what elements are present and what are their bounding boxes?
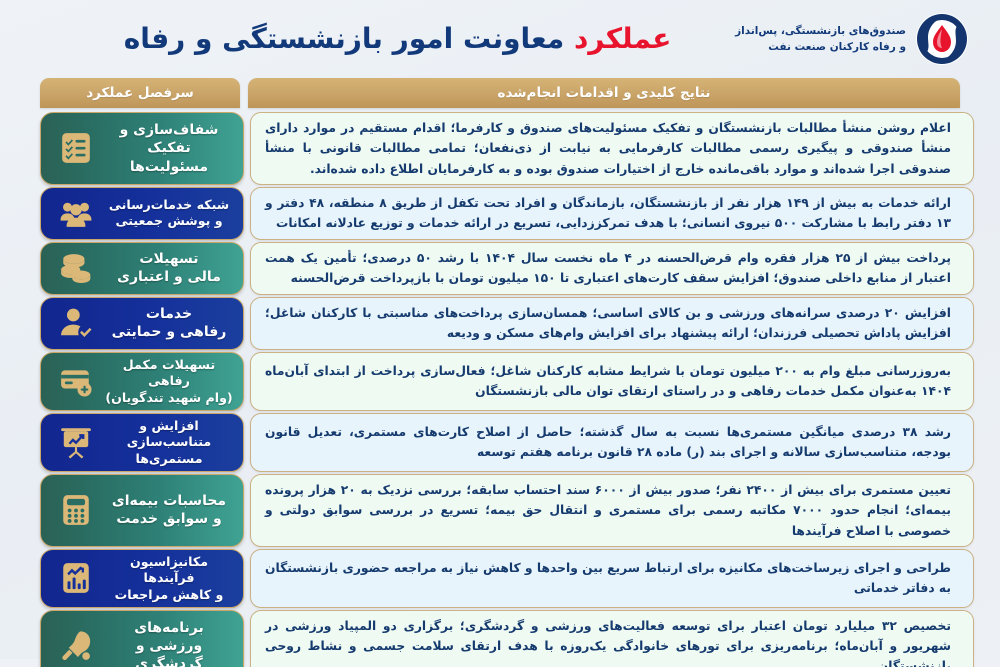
results-cell-7: تعیین مستمری برای بیش از ۲۴۰۰ نفر؛ صدور … bbox=[250, 474, 974, 547]
table-row: شفاف‌سازی و تفکیک مسئولیت‌ها اعلام روشن … bbox=[40, 112, 960, 185]
table-row: برنامه‌های ورزشی و گردشگری تخصیص ۳۲ میلی… bbox=[40, 610, 960, 667]
results-cell-6: رشد ۳۸ درصدی میانگین مستمری‌ها نسبت به س… bbox=[250, 413, 974, 472]
table-row: محاسبات بیمه‌ای و سوابق خدمت تعیین مستمر… bbox=[40, 474, 960, 547]
category-label: برنامه‌های ورزشی و گردشگری bbox=[103, 619, 235, 667]
table-rows: شفاف‌سازی و تفکیک مسئولیت‌ها اعلام روشن … bbox=[0, 108, 1000, 667]
calculator-icon bbox=[57, 491, 95, 529]
category-label: محاسبات بیمه‌ای و سوابق خدمت bbox=[103, 492, 235, 528]
results-text: رشد ۳۸ درصدی میانگین مستمری‌ها نسبت به س… bbox=[265, 422, 951, 463]
category-label: شفاف‌سازی و تفکیک مسئولیت‌ها bbox=[103, 121, 235, 176]
results-text: افزایش ۲۰ درصدی سرانه‌های ورزشی و بن کال… bbox=[265, 303, 951, 344]
category-pill-3[interactable]: تسهیلات مالی و اعتباری bbox=[40, 242, 244, 295]
category-pill-8[interactable]: مکانیزاسیون فرآیندها و کاهش مراجعات bbox=[40, 549, 244, 608]
results-cell-3: پرداخت بیش از ۲۵ هزار فقره وام قرض‌الحسن… bbox=[250, 242, 974, 295]
page-title: عملکرد معاونت امور بازنشستگی و رفاه bbox=[124, 22, 672, 55]
category-pill-9[interactable]: برنامه‌های ورزشی و گردشگری bbox=[40, 610, 244, 667]
table-row: خدمات رفاهی و حمایتی افزایش ۲۰ درصدی سرا… bbox=[40, 297, 960, 350]
results-text: تخصیص ۳۲ میلیارد تومان اعتبار برای توسعه… bbox=[265, 616, 951, 667]
category-pill-7[interactable]: محاسبات بیمه‌ای و سوابق خدمت bbox=[40, 474, 244, 547]
presentation-chart-icon bbox=[57, 423, 95, 461]
page-header: صندوق‌های بازنشستگی، پس‌انداز و رفاه کار… bbox=[0, 0, 1000, 78]
infographic-page: صندوق‌های بازنشستگی، پس‌انداز و رفاه کار… bbox=[0, 0, 1000, 667]
category-label: مکانیزاسیون فرآیندها و کاهش مراجعات bbox=[103, 554, 235, 603]
table-row: شبکه خدمات‌رسانی و پوشش جمعیتی ارائه خدم… bbox=[40, 187, 960, 240]
category-label: افزایش و متناسب‌سازی مستمری‌ها bbox=[103, 418, 235, 467]
results-text: ارائه خدمات به بیش از ۱۴۹ هزار نفر از با… bbox=[265, 193, 951, 234]
results-cell-5: به‌روزرسانی مبلغ وام به ۲۰۰ میلیون تومان… bbox=[250, 352, 974, 411]
person-check-icon bbox=[57, 304, 95, 342]
category-label: تسهیلات مکمل رفاهی (وام شهید تندگویان) bbox=[103, 357, 235, 406]
page-title-rest: معاونت امور بازنشستگی و رفاه bbox=[124, 22, 574, 55]
credit-card-plus-icon bbox=[57, 362, 95, 400]
results-text: تعیین مستمری برای بیش از ۲۴۰۰ نفر؛ صدور … bbox=[265, 480, 951, 541]
title-wrap: عملکرد معاونت امور بازنشستگی و رفاه bbox=[0, 25, 735, 53]
results-cell-9: تخصیص ۳۲ میلیارد تومان اعتبار برای توسعه… bbox=[250, 610, 974, 667]
results-cell-2: ارائه خدمات به بیش از ۱۴۹ هزار نفر از با… bbox=[250, 187, 974, 240]
results-cell-8: طراحی و اجرای زیرساخت‌های مکانیزه برای ا… bbox=[250, 549, 974, 608]
brand-text: صندوق‌های بازنشستگی، پس‌انداز و رفاه کار… bbox=[735, 23, 906, 56]
checklist-icon bbox=[57, 129, 95, 167]
table-row: افزایش و متناسب‌سازی مستمری‌ها رشد ۳۸ در… bbox=[40, 413, 960, 472]
brand-line-2: و رفاه کارکنان صنعت نفت bbox=[735, 39, 906, 55]
category-label: شبکه خدمات‌رسانی و پوشش جمعیتی bbox=[103, 197, 235, 230]
table-row: تسهیلات مکمل رفاهی (وام شهید تندگویان) ب… bbox=[40, 352, 960, 411]
column-headers: سرفصل عملکرد نتایج کلیدی و اقدامات انجام… bbox=[0, 78, 1000, 108]
flame-droplet-logo-icon bbox=[914, 11, 970, 67]
column-header-results: نتایج کلیدی و اقدامات انجام‌شده bbox=[248, 78, 960, 108]
table-row: تسهیلات مالی و اعتباری پرداخت بیش از ۲۵ … bbox=[40, 242, 960, 295]
results-cell-4: افزایش ۲۰ درصدی سرانه‌های ورزشی و بن کال… bbox=[250, 297, 974, 350]
column-header-category: سرفصل عملکرد bbox=[40, 78, 240, 108]
category-pill-1[interactable]: شفاف‌سازی و تفکیک مسئولیت‌ها bbox=[40, 112, 244, 185]
results-text: پرداخت بیش از ۲۵ هزار فقره وام قرض‌الحسن… bbox=[265, 248, 951, 289]
category-pill-4[interactable]: خدمات رفاهی و حمایتی bbox=[40, 297, 244, 350]
table-row: مکانیزاسیون فرآیندها و کاهش مراجعات طراح… bbox=[40, 549, 960, 608]
coins-stack-icon bbox=[57, 249, 95, 287]
results-cell-1: اعلام روشن منشأ مطالبات بازنشستگان و تفک… bbox=[250, 112, 974, 185]
category-pill-2[interactable]: شبکه خدمات‌رسانی و پوشش جمعیتی bbox=[40, 187, 244, 240]
users-group-icon bbox=[57, 194, 95, 232]
page-title-highlight: عملکرد bbox=[574, 22, 671, 55]
results-text: طراحی و اجرای زیرساخت‌های مکانیزه برای ا… bbox=[265, 558, 951, 599]
results-text: اعلام روشن منشأ مطالبات بازنشستگان و تفک… bbox=[265, 118, 951, 179]
category-label: تسهیلات مالی و اعتباری bbox=[103, 250, 235, 286]
results-text: به‌روزرسانی مبلغ وام به ۲۰۰ میلیون تومان… bbox=[265, 361, 951, 402]
chart-document-icon bbox=[57, 559, 95, 597]
ping-pong-paddle-icon bbox=[57, 627, 95, 665]
category-label: خدمات رفاهی و حمایتی bbox=[103, 305, 235, 341]
category-pill-5[interactable]: تسهیلات مکمل رفاهی (وام شهید تندگویان) bbox=[40, 352, 244, 411]
brand-line-1: صندوق‌های بازنشستگی، پس‌انداز bbox=[735, 23, 906, 39]
brand-block: صندوق‌های بازنشستگی، پس‌انداز و رفاه کار… bbox=[735, 11, 970, 67]
category-pill-6[interactable]: افزایش و متناسب‌سازی مستمری‌ها bbox=[40, 413, 244, 472]
